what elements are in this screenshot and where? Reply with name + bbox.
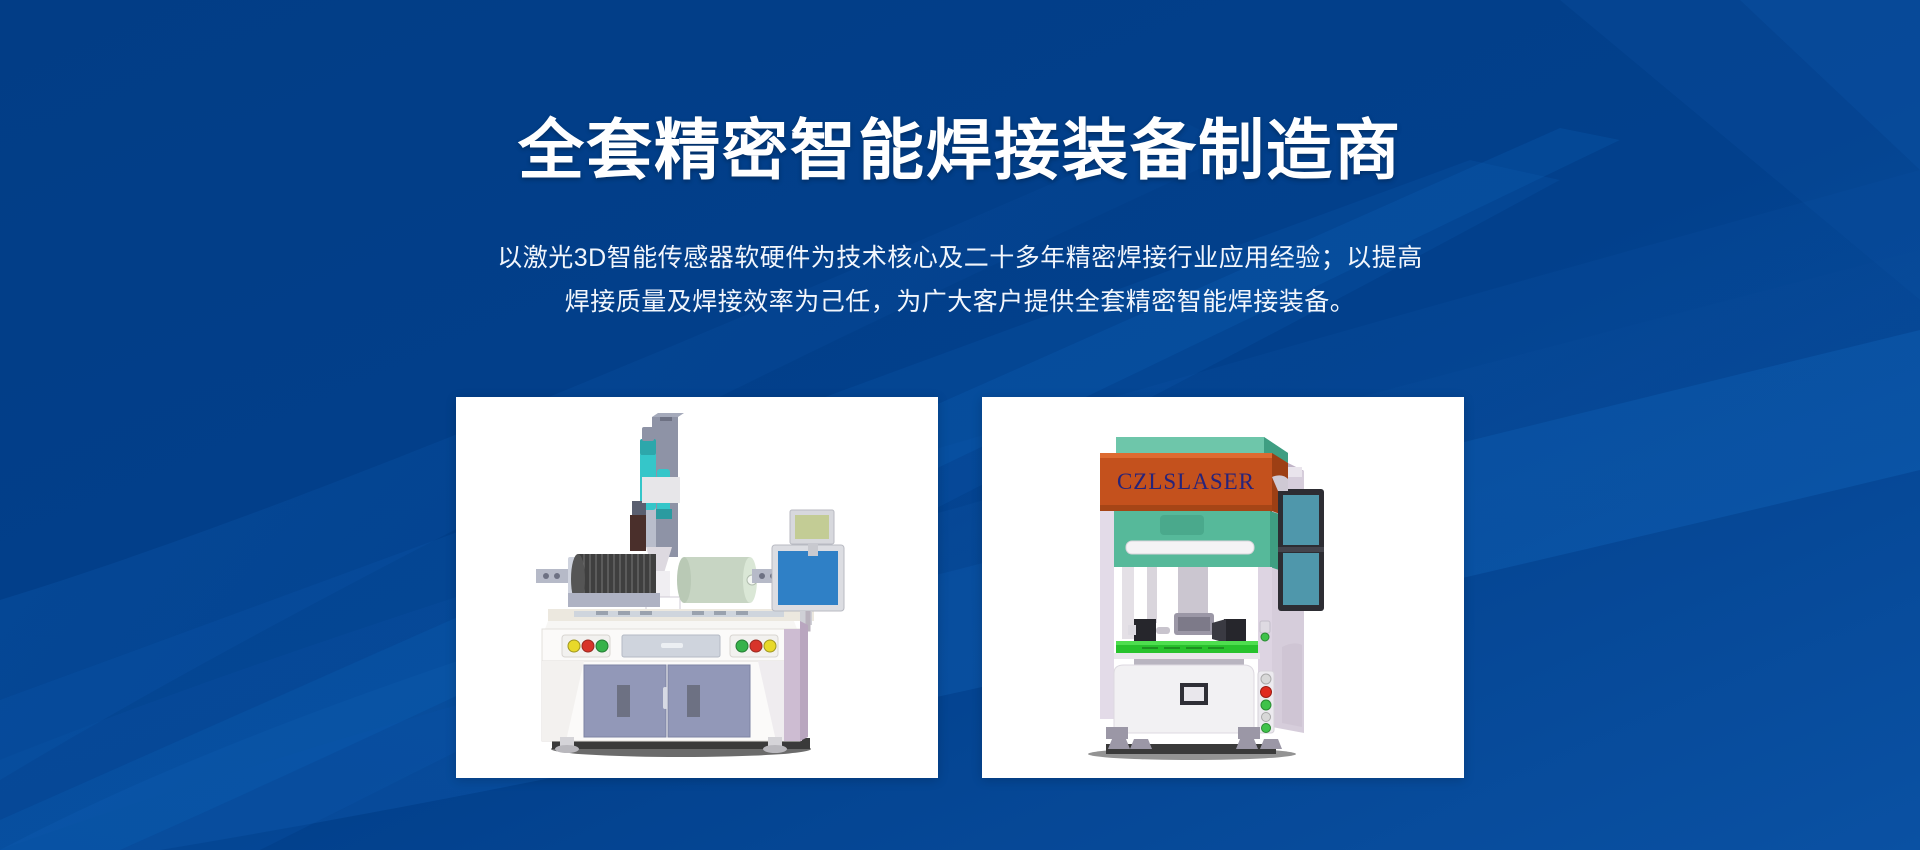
page-subtitle: 以激光3D智能传感器软硬件为技术核心及二十多年精密焊接行业应用经验；以提高 焊接… bbox=[400, 236, 1520, 324]
machine-illustration-enclosed-welder: CZLSLASER bbox=[982, 397, 1464, 778]
product-card-automatic-laser-welding-machine[interactable] bbox=[456, 397, 938, 778]
hero-banner: 全套精密智能焊接装备制造商 以激光3D智能传感器软硬件为技术核心及二十多年精密焊… bbox=[0, 0, 1920, 850]
product-image-gallery: CZLSLASER bbox=[456, 397, 1464, 778]
product-card-enclosed-laser-welding-machine[interactable]: CZLSLASER bbox=[982, 397, 1464, 778]
subtitle-line-1: 以激光3D智能传感器软硬件为技术核心及二十多年精密焊接行业应用经验；以提高 bbox=[400, 236, 1520, 280]
machine-illustration-gantry-welder bbox=[456, 397, 938, 778]
machine-brand-label: CZLSLASER bbox=[1117, 469, 1255, 494]
page-title: 全套精密智能焊接装备制造商 bbox=[0, 116, 1920, 185]
subtitle-line-2: 焊接质量及焊接效率为己任，为广大客户提供全套精密智能焊接装备。 bbox=[400, 280, 1520, 324]
